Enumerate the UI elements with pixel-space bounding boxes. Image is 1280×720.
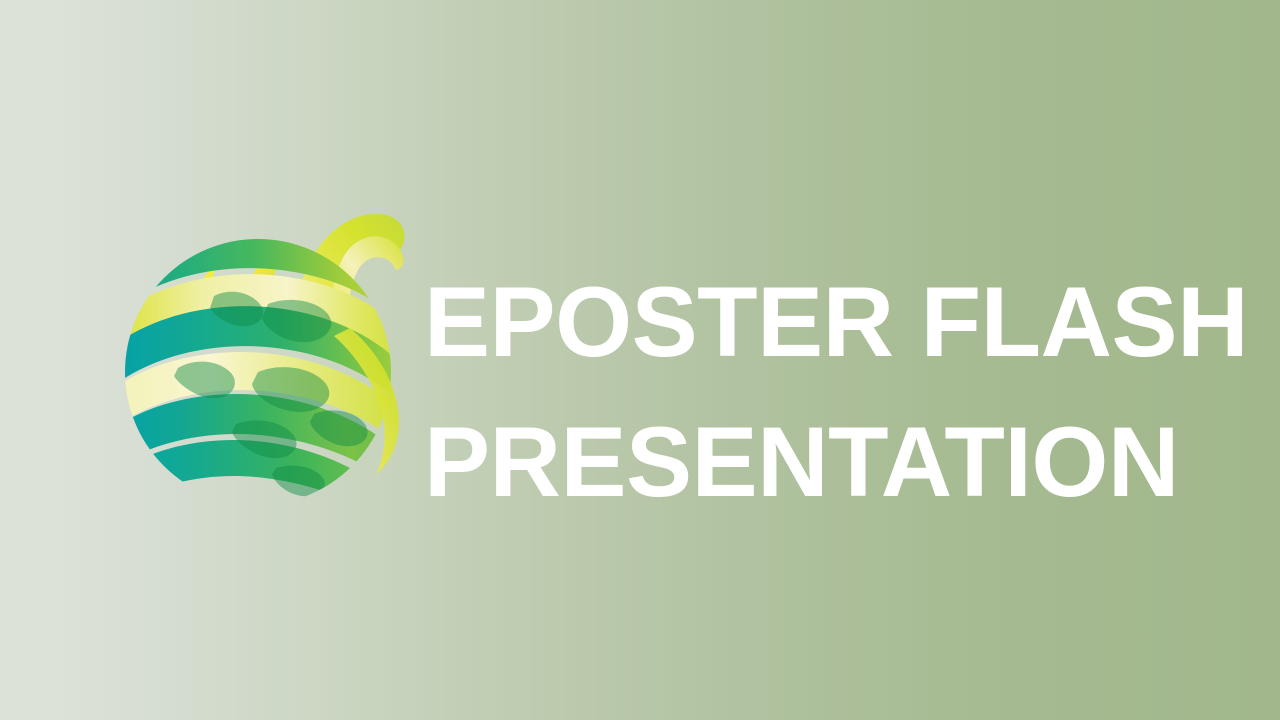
globe-ribbon-logo-graphic bbox=[118, 200, 406, 526]
title-slide: EPOSTER FLASH PRESENTATION bbox=[0, 0, 1280, 720]
slide-title: EPOSTER FLASH PRESENTATION bbox=[424, 252, 1224, 532]
globe-ribbon-logo bbox=[118, 200, 406, 526]
title-line-2: PRESENTATION bbox=[424, 392, 1224, 532]
logo-globe-body bbox=[118, 234, 406, 526]
title-line-1: EPOSTER FLASH bbox=[424, 252, 1224, 392]
